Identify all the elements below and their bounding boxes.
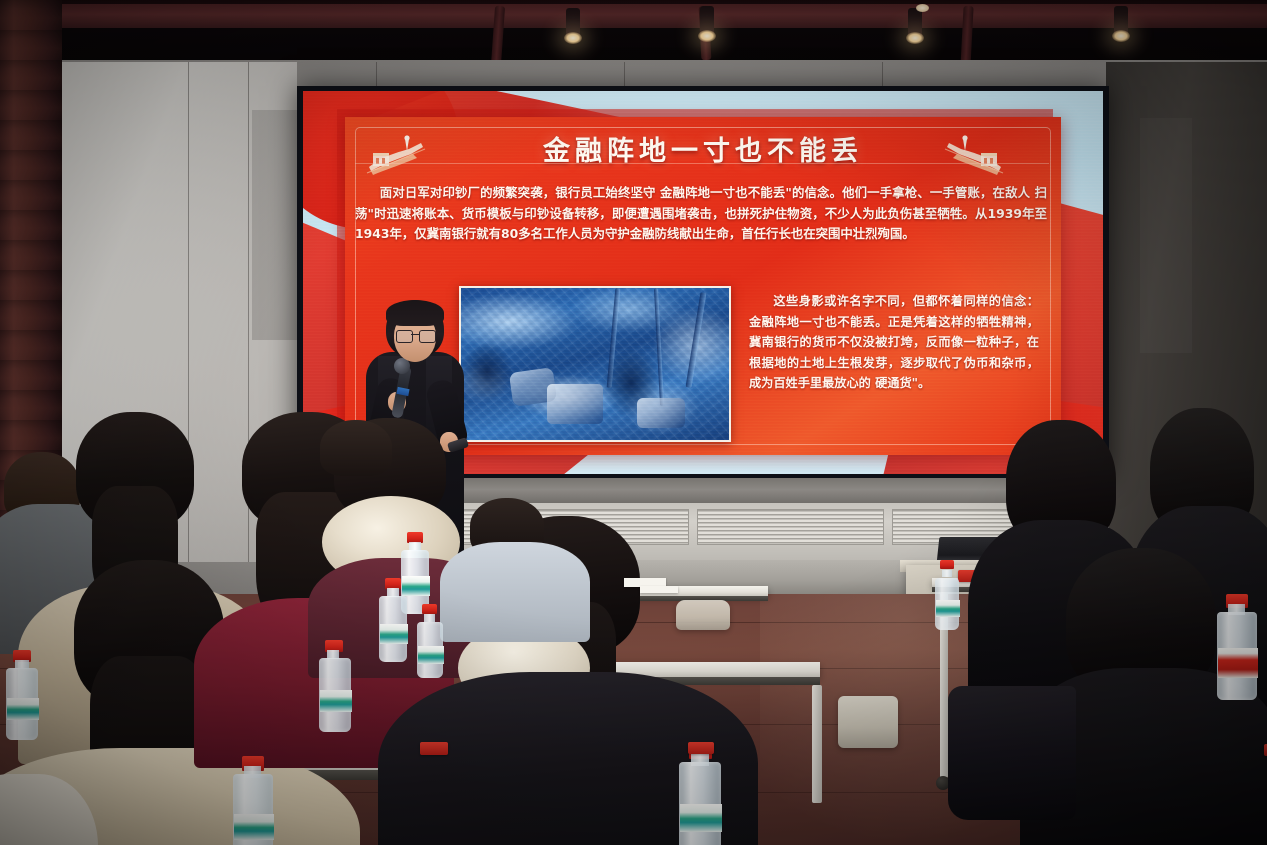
bottle-body-4 bbox=[233, 774, 273, 845]
slide-paragraph-main: 面对日军对印钞厂的频繁突袭，银行员工始终坚守 金融阵地一寸也不能丢"的信念。他们… bbox=[355, 183, 1047, 245]
glasses-bridge bbox=[411, 334, 419, 335]
ceiling-spotlight-1 bbox=[566, 8, 580, 38]
desk-item-red-3[interactable] bbox=[688, 742, 714, 754]
bottle-label-1 bbox=[402, 576, 430, 596]
slide-title-rule bbox=[355, 163, 1049, 164]
attendee-back-center bbox=[314, 420, 404, 500]
bottle-label-2 bbox=[380, 624, 408, 644]
ceiling-spotlight-4 bbox=[1114, 6, 1128, 36]
ceiling-spotlight-2 bbox=[700, 6, 714, 36]
paper-back-2 bbox=[640, 586, 678, 593]
bottle-label-6 bbox=[1218, 648, 1258, 678]
bottle-label-7 bbox=[936, 600, 960, 617]
photo-cart-2 bbox=[547, 384, 603, 424]
presenter-fringe bbox=[386, 300, 444, 326]
bottle-label-3 bbox=[320, 690, 352, 712]
bottle-body-2 bbox=[379, 596, 407, 662]
presenter-glasses bbox=[396, 330, 434, 341]
wall-right-accent-panel bbox=[1140, 118, 1192, 353]
bottle-body-5 bbox=[679, 762, 721, 845]
slide-historical-photo bbox=[459, 286, 731, 442]
presentation-room-photo: 金融阵地一寸也不能丢 面对日军对印钞厂的频繁突袭，银行员工始终坚守 金融阵地一寸… bbox=[0, 0, 1267, 845]
attendee-center-grey bbox=[440, 498, 580, 628]
ceiling-beam bbox=[0, 4, 1267, 30]
photo-cart-3 bbox=[637, 398, 685, 428]
ceiling-spotlight-3 bbox=[908, 8, 922, 38]
bottle-body-7 bbox=[935, 578, 959, 630]
bottle-neck-7 bbox=[942, 570, 952, 577]
bottle-body-8 bbox=[6, 668, 38, 740]
bottle-cap-9 bbox=[422, 604, 437, 614]
wall-shadow-panel bbox=[252, 110, 298, 340]
coat-draped-on-chair bbox=[948, 686, 1076, 820]
photo-image bbox=[461, 288, 729, 440]
bottle-cap-7 bbox=[940, 560, 954, 569]
bottle-body-9 bbox=[417, 622, 443, 678]
table-leg-c1 bbox=[812, 685, 822, 803]
glasses-lens-right bbox=[419, 330, 436, 343]
attendee7-hoodie bbox=[440, 542, 590, 642]
bottle-label-9 bbox=[418, 646, 444, 664]
bottle-label-8 bbox=[7, 698, 39, 720]
glasses-lens-left bbox=[396, 330, 413, 343]
attendee8-hair bbox=[320, 420, 392, 476]
ceiling-light-small-1 bbox=[916, 4, 929, 12]
bottle-label-5 bbox=[680, 804, 722, 832]
bottle-body-6 bbox=[1217, 612, 1257, 700]
desk-item-red-2[interactable] bbox=[420, 742, 448, 755]
slide-paragraph-side: 这些身影或许名字不同，但都怀着同样的信念：金融阵地一寸也不能丢。正是凭着这样的牺… bbox=[749, 291, 1039, 394]
bottle-body-3 bbox=[319, 658, 351, 732]
bottle-neck-9 bbox=[424, 614, 435, 622]
chair-right-mid bbox=[838, 696, 898, 748]
bottle-label-4 bbox=[234, 814, 274, 840]
